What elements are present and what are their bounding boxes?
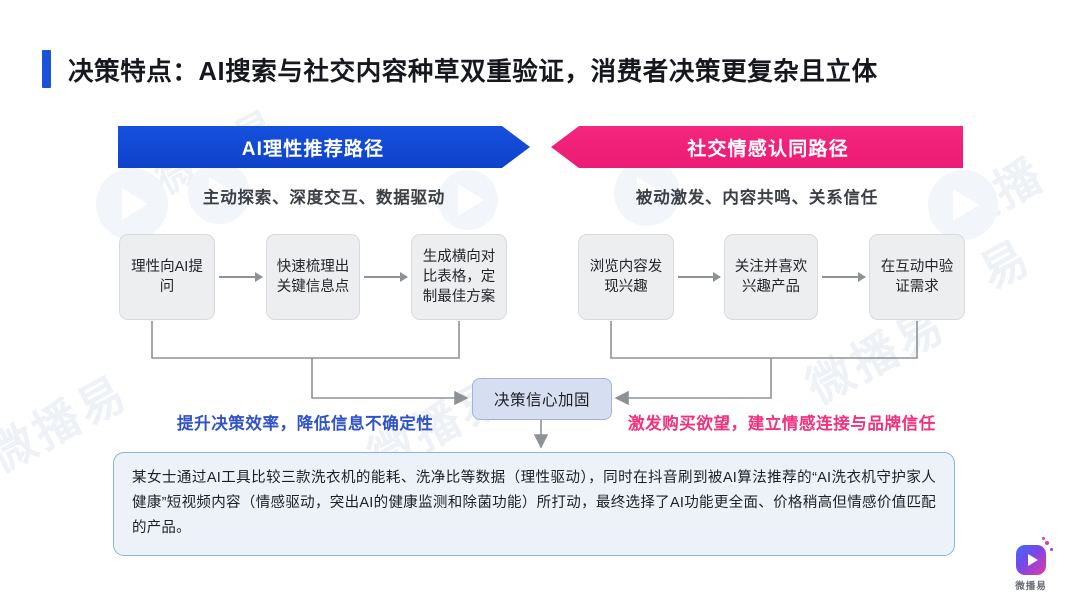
page-title: 决策特点：AI搜索与社交内容种草双重验证，消费者决策更复杂且立体	[42, 50, 878, 88]
logo-dot-icon	[1042, 537, 1045, 540]
arrow-right-1-to-2	[678, 276, 720, 278]
arrow-right-2-to-3	[822, 276, 865, 278]
summary-case-box: 某女士通过AI工具比较三款洗衣机的能耗、洗净比等数据（理性驱动），同时在抖音刷到…	[113, 452, 955, 556]
banner-left-label: AI理性推荐路径	[242, 134, 385, 161]
play-icon	[1016, 545, 1046, 575]
arrow-left-1-to-2	[219, 276, 262, 278]
brand-logo: 微播易	[1003, 545, 1059, 592]
logo-dot-icon	[1050, 548, 1053, 551]
step-box-left-2[interactable]: 快速梳理出关键信息点	[266, 234, 360, 320]
logo-dot-icon	[1045, 541, 1049, 545]
subcaption-right: 被动激发、内容共鸣、关系信任	[551, 184, 963, 208]
banner-social-emotional-path[interactable]: 社交情感认同路径	[551, 126, 963, 168]
center-node-decision-confidence[interactable]: 决策信心加固	[472, 378, 612, 420]
brand-name: 微播易	[1003, 578, 1059, 592]
subcaption-left: 主动探索、深度交互、数据驱动	[118, 184, 530, 208]
slide-root: 微播易 微播易 微播易 微播易 微播易 决策特点：AI搜索与社交内容种草双重验证…	[0, 0, 1080, 608]
title-text: 决策特点：AI搜索与社交内容种草双重验证，消费者决策更复杂且立体	[68, 51, 878, 88]
title-accent-bar	[42, 50, 51, 88]
banner-right-label: 社交情感认同路径	[687, 134, 849, 161]
step-box-right-1[interactable]: 浏览内容发现兴趣	[578, 234, 674, 320]
center-node-label: 决策信心加固	[494, 388, 590, 410]
step-box-right-2[interactable]: 关注并喜欢兴趣产品	[724, 234, 818, 320]
step-box-left-1[interactable]: 理性向AI提问	[119, 234, 215, 320]
outcome-caption-right: 激发购买欲望，建立情感连接与品牌信任	[628, 410, 936, 434]
arrow-left-2-to-3	[364, 276, 407, 278]
step-box-left-3[interactable]: 生成横向对比表格，定制最佳方案	[411, 234, 507, 320]
outcome-caption-left: 提升决策效率，降低信息不确定性	[177, 410, 434, 434]
step-box-right-3[interactable]: 在互动中验证需求	[869, 234, 965, 320]
banner-ai-rational-path[interactable]: AI理性推荐路径	[118, 126, 530, 168]
